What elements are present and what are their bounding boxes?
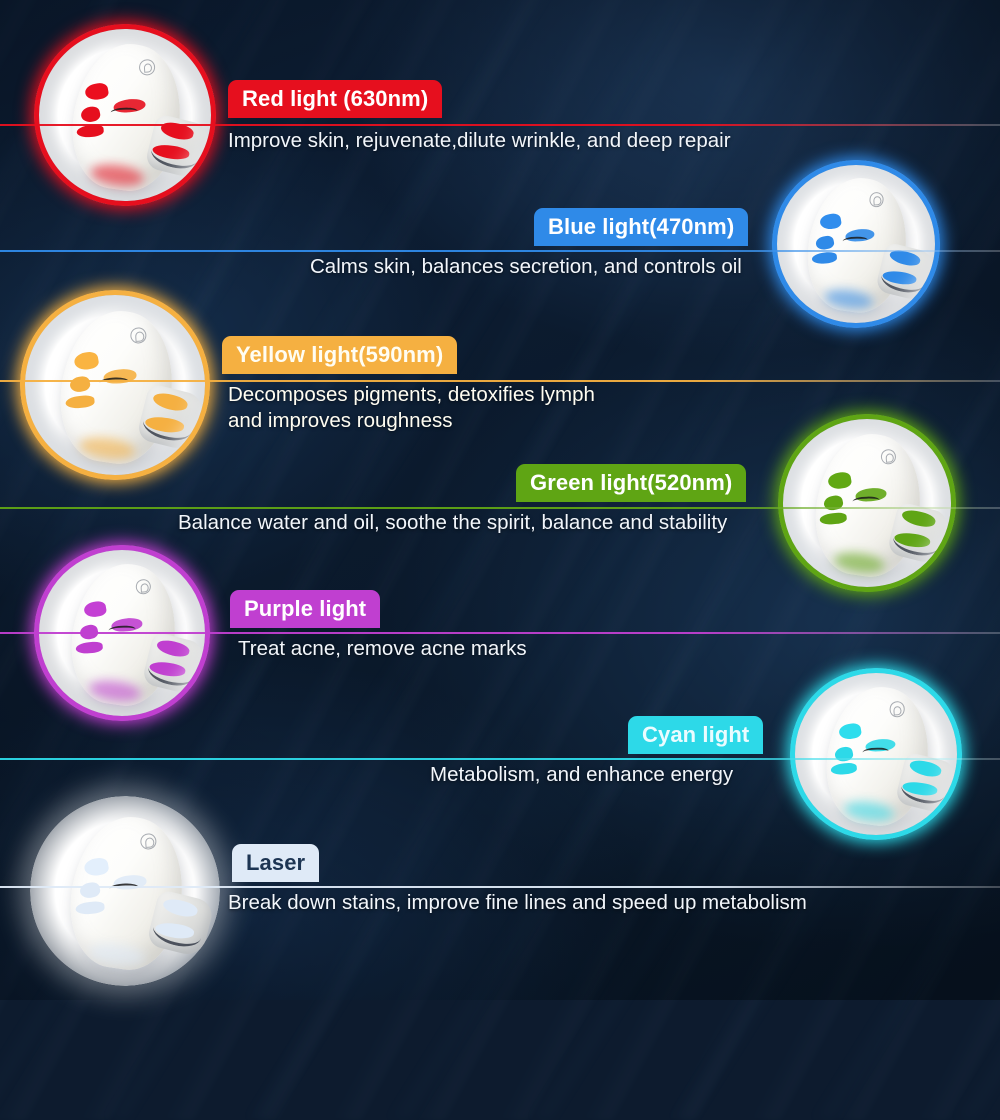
light-modes-list: Red light (630nm)Improve skin, rejuvenat… bbox=[0, 0, 1000, 1000]
divider-green bbox=[0, 507, 1000, 509]
mask-image-laser bbox=[30, 796, 220, 986]
label-cyan: Cyan light bbox=[628, 716, 763, 754]
label-red: Red light (630nm) bbox=[228, 80, 442, 118]
mask-ring-yellow bbox=[20, 290, 210, 480]
description-laser: Break down stains, improve fine lines an… bbox=[228, 890, 928, 916]
divider-purple bbox=[0, 632, 1000, 634]
divider-cyan bbox=[0, 758, 1000, 760]
label-green: Green light(520nm) bbox=[516, 464, 746, 502]
label-blue: Blue light(470nm) bbox=[534, 208, 748, 246]
mask-image-cyan bbox=[790, 668, 962, 840]
mask-ring-green bbox=[778, 414, 956, 592]
description-red: Improve skin, rejuvenate,dilute wrinkle,… bbox=[228, 128, 988, 154]
mask-image-red bbox=[34, 24, 216, 206]
mask-ring-cyan bbox=[790, 668, 962, 840]
mask-ring-laser bbox=[30, 796, 220, 986]
divider-red bbox=[0, 124, 1000, 126]
label-purple: Purple light bbox=[230, 590, 380, 628]
divider-laser bbox=[0, 886, 1000, 888]
label-laser: Laser bbox=[232, 844, 319, 882]
description-yellow: Decomposes pigments, detoxifies lymph an… bbox=[228, 382, 788, 434]
description-cyan: Metabolism, and enhance energy bbox=[430, 762, 950, 788]
mask-ring-blue bbox=[772, 160, 940, 328]
mask-image-yellow bbox=[20, 290, 210, 480]
description-blue: Calms skin, balances secretion, and cont… bbox=[310, 254, 830, 280]
label-yellow: Yellow light(590nm) bbox=[222, 336, 457, 374]
mask-image-green bbox=[778, 414, 956, 592]
description-purple: Treat acne, remove acne marks bbox=[238, 636, 798, 662]
description-green: Balance water and oil, soothe the spirit… bbox=[178, 510, 798, 536]
mask-image-blue bbox=[772, 160, 940, 328]
mask-ring-red bbox=[34, 24, 216, 206]
divider-blue bbox=[0, 250, 1000, 252]
